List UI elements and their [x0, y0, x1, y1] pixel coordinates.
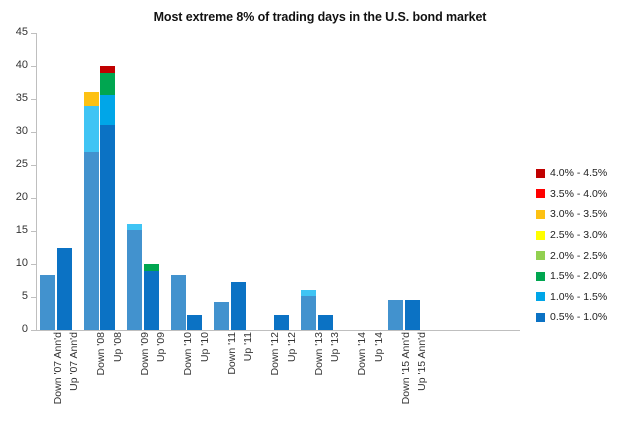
- x-axis-line: [36, 330, 520, 331]
- stacked-bar[interactable]: [214, 302, 229, 330]
- legend-swatch-icon: [536, 251, 545, 260]
- bar-group[interactable]: [231, 33, 246, 330]
- legend-item[interactable]: 1.5% - 2.0%: [536, 266, 640, 287]
- legend-item[interactable]: 3.5% - 4.0%: [536, 184, 640, 205]
- legend-item[interactable]: 4.0% - 4.5%: [536, 163, 640, 184]
- x-axis-tick-label: Down '12: [269, 332, 281, 377]
- y-axis-tick-label: 10: [4, 257, 28, 269]
- bar-segment[interactable]: [100, 66, 115, 73]
- legend-label: 1.0% - 1.5%: [550, 291, 607, 303]
- bar-group[interactable]: [127, 33, 142, 330]
- x-axis-tick-label: Down '13: [313, 332, 325, 377]
- x-axis-tick-label: Up '07 Ann'd: [68, 332, 80, 393]
- bar-group[interactable]: [57, 33, 72, 330]
- bar-segment[interactable]: [57, 248, 72, 331]
- legend-item[interactable]: 2.5% - 3.0%: [536, 225, 640, 246]
- stacked-bar[interactable]: [274, 315, 289, 330]
- stacked-bar[interactable]: [40, 275, 55, 330]
- bar-group[interactable]: [405, 33, 420, 330]
- y-axis-tick-label: 25: [4, 158, 28, 170]
- legend-swatch-icon: [536, 292, 545, 301]
- legend-item[interactable]: 3.0% - 3.5%: [536, 204, 640, 225]
- x-axis-tick-label: Down '10: [182, 332, 194, 377]
- y-axis-tick-label: 35: [4, 92, 28, 104]
- legend-label: 4.0% - 4.5%: [550, 167, 607, 179]
- stacked-bar[interactable]: [231, 282, 246, 330]
- bar-segment[interactable]: [84, 106, 99, 152]
- y-axis-tick-label: 45: [4, 26, 28, 38]
- x-axis-labels: Down '07 Ann'dUp '07 Ann'dDown '08Up '08…: [36, 332, 520, 436]
- bar-group[interactable]: [187, 33, 202, 330]
- legend-label: 2.0% - 2.5%: [550, 250, 607, 262]
- bar-segment[interactable]: [388, 300, 403, 330]
- legend-label: 3.0% - 3.5%: [550, 208, 607, 220]
- legend-item[interactable]: 2.0% - 2.5%: [536, 245, 640, 266]
- bar-group[interactable]: [214, 33, 229, 330]
- bar-segment[interactable]: [84, 152, 99, 330]
- stacked-bar[interactable]: [171, 275, 186, 330]
- legend-label: 1.5% - 2.0%: [550, 270, 607, 282]
- bar-group[interactable]: [100, 33, 115, 330]
- bar-group[interactable]: [301, 33, 316, 330]
- stacked-bar[interactable]: [187, 315, 202, 330]
- bar-group[interactable]: [318, 33, 333, 330]
- bar-segment[interactable]: [301, 296, 316, 330]
- y-axis-tick-label: 40: [4, 59, 28, 71]
- x-axis-tick-label: Down '11: [226, 332, 238, 377]
- y-axis-tick: [31, 330, 36, 331]
- legend-label: 0.5% - 1.0%: [550, 311, 607, 323]
- bar-segment[interactable]: [40, 275, 55, 330]
- bar-segment[interactable]: [84, 92, 99, 105]
- bar-group[interactable]: [144, 33, 159, 330]
- legend-swatch-icon: [536, 313, 545, 322]
- y-axis-tick-label: 0: [4, 323, 28, 335]
- legend-swatch-icon: [536, 169, 545, 178]
- chart-container: Most extreme 8% of trading days in the U…: [0, 0, 640, 436]
- bar-group[interactable]: [274, 33, 289, 330]
- x-axis-tick-label: Down '08: [95, 332, 107, 377]
- legend-swatch-icon: [536, 231, 545, 240]
- bar-segment[interactable]: [144, 264, 159, 271]
- stacked-bar[interactable]: [84, 92, 99, 330]
- x-axis-tick-label: Up '09: [155, 332, 167, 364]
- stacked-bar[interactable]: [127, 224, 142, 330]
- y-axis-tick-label: 5: [4, 290, 28, 302]
- x-axis-tick-label: Up '13: [329, 332, 341, 364]
- plot-area: [36, 33, 520, 330]
- x-axis-tick-label: Up '08: [112, 332, 124, 364]
- legend-item[interactable]: 0.5% - 1.0%: [536, 307, 640, 328]
- y-axis-tick-label: 20: [4, 191, 28, 203]
- legend-item[interactable]: 1.0% - 1.5%: [536, 287, 640, 308]
- legend-label: 2.5% - 3.0%: [550, 229, 607, 241]
- bar-segment[interactable]: [100, 125, 115, 330]
- x-axis-tick-label: Down '09: [139, 332, 151, 377]
- bar-segment[interactable]: [318, 315, 333, 330]
- chart-legend: 4.0% - 4.5%3.5% - 4.0%3.0% - 3.5%2.5% - …: [536, 163, 640, 328]
- bar-group[interactable]: [361, 33, 376, 330]
- bar-group[interactable]: [84, 33, 99, 330]
- bar-segment[interactable]: [405, 300, 420, 330]
- stacked-bar[interactable]: [388, 300, 403, 330]
- stacked-bar[interactable]: [405, 300, 420, 330]
- stacked-bar[interactable]: [144, 264, 159, 330]
- x-axis-tick-label: Up '12: [286, 332, 298, 364]
- y-axis-tick-label: 15: [4, 224, 28, 236]
- y-axis-tick-label: 30: [4, 125, 28, 137]
- bar-segment[interactable]: [231, 282, 246, 330]
- x-axis-tick-label: Up '11: [242, 332, 254, 363]
- stacked-bar[interactable]: [57, 248, 72, 331]
- bar-segment[interactable]: [171, 275, 186, 330]
- bar-group[interactable]: [258, 33, 273, 330]
- x-axis-tick-label: Down '14: [356, 332, 368, 377]
- x-axis-tick-label: Down '07 Ann'd: [52, 332, 64, 406]
- bar-segment[interactable]: [187, 315, 202, 330]
- stacked-bar[interactable]: [100, 66, 115, 330]
- bar-segment[interactable]: [214, 302, 229, 330]
- stacked-bar[interactable]: [301, 290, 316, 330]
- bar-segment[interactable]: [127, 230, 142, 330]
- x-axis-tick-label: Up '10: [199, 332, 211, 364]
- bar-segment[interactable]: [100, 73, 115, 95]
- bar-segment[interactable]: [144, 271, 159, 330]
- legend-swatch-icon: [536, 272, 545, 281]
- legend-label: 3.5% - 4.0%: [550, 188, 607, 200]
- chart-title: Most extreme 8% of trading days in the U…: [0, 10, 640, 24]
- bar-group[interactable]: [171, 33, 186, 330]
- bar-group[interactable]: [40, 33, 55, 330]
- x-axis-tick-label: Up '14: [373, 332, 385, 364]
- bar-group[interactable]: [388, 33, 403, 330]
- legend-swatch-icon: [536, 210, 545, 219]
- stacked-bar[interactable]: [318, 315, 333, 330]
- legend-swatch-icon: [536, 189, 545, 198]
- bar-segment[interactable]: [100, 95, 115, 125]
- x-axis-tick-label: Down '15 Ann'd: [400, 332, 412, 406]
- bar-segment[interactable]: [274, 315, 289, 330]
- bar-group[interactable]: [345, 33, 360, 330]
- x-axis-tick-label: Up '15 Ann'd: [416, 332, 428, 393]
